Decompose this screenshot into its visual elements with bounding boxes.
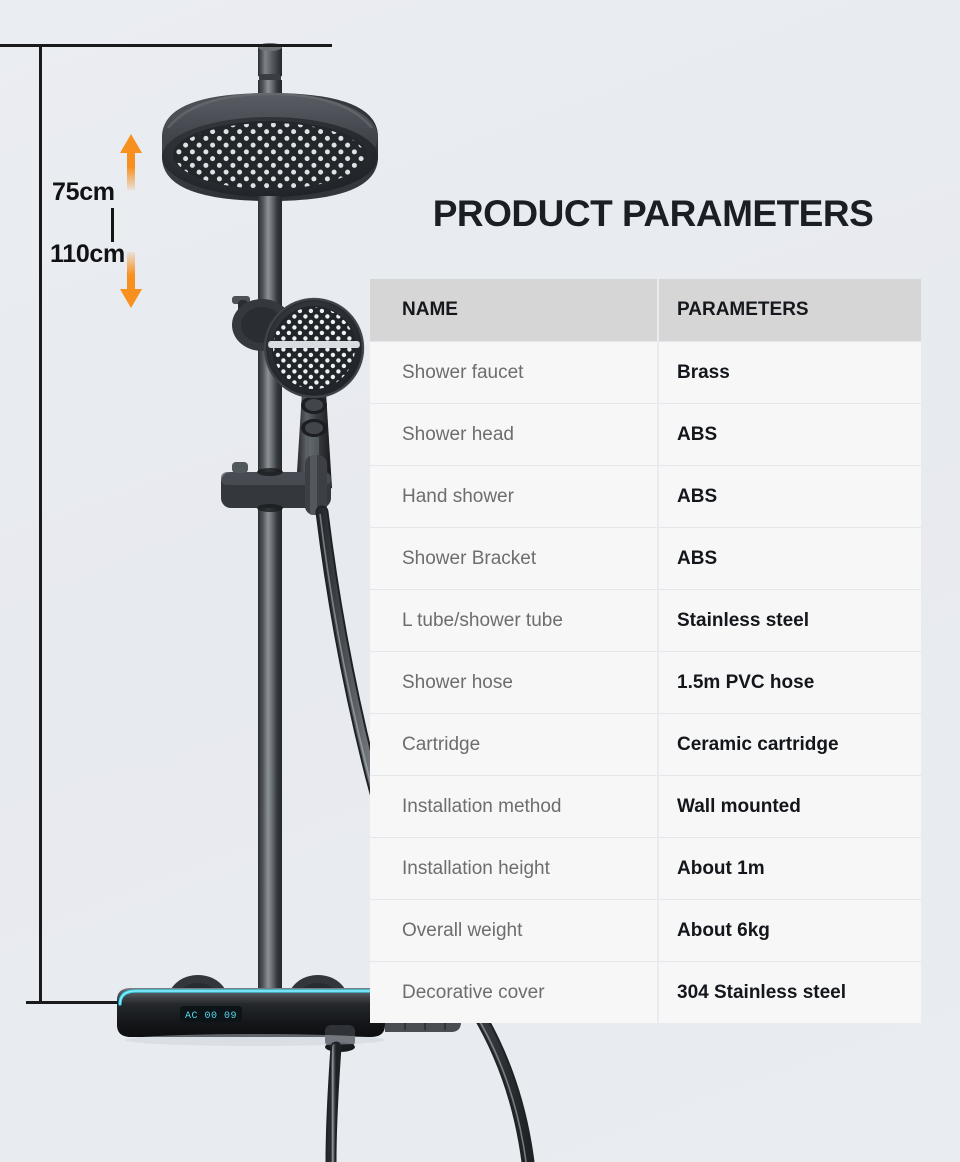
table-cell-value: About 1m [659,837,921,899]
table-cell-name: Installation method [370,775,657,837]
table-cell-value: Ceramic cartridge [659,713,921,775]
table-cell-name: Shower head [370,403,657,465]
table-cell-value: Wall mounted [659,775,921,837]
table-header-row: NAME PARAMETERS [370,279,921,341]
table-cell-value: Brass [659,341,921,403]
measurement-line-top [0,44,332,47]
measurement-line-vertical [39,46,42,1003]
table-cell-value: Stainless steel [659,589,921,651]
measurement-tick [111,208,114,242]
table-cell-name: Decorative cover [370,961,657,1023]
table-cell-value: About 6kg [659,899,921,961]
table-row: Decorative cover304 Stainless steel [370,961,921,1023]
rain-shower-head [162,93,378,201]
svg-text:AC 00 09: AC 00 09 [185,1011,237,1022]
product-parameters-page: AC 00 09 75cm 110cm PROD [0,0,960,1162]
table-body: Shower faucetBrassShower headABSHand sho… [370,341,921,1023]
table-cell-name: Installation height [370,837,657,899]
table-cell-name: L tube/shower tube [370,589,657,651]
arrow-up-icon [120,134,142,190]
table-row: Shower headABS [370,403,921,465]
table-cell-value: ABS [659,465,921,527]
table-cell-value: ABS [659,527,921,589]
header-cell-parameters: PARAMETERS [659,279,921,341]
arrow-down-icon [120,252,142,308]
measurement-line-bottom [26,1001,118,1004]
header-cell-name: NAME [370,279,657,341]
table-row: CartridgeCeramic cartridge [370,713,921,775]
table-cell-name: Shower faucet [370,341,657,403]
table-row: Shower faucetBrass [370,341,921,403]
riser-top-inlet [258,43,282,84]
table-row: Overall weightAbout 6kg [370,899,921,961]
table-cell-value: 1.5m PVC hose [659,651,921,713]
table-row: Shower hose1.5m PVC hose [370,651,921,713]
table-row: L tube/shower tubeStainless steel [370,589,921,651]
table-row: Shower BracketABS [370,527,921,589]
specification-table: NAME PARAMETERS Shower faucetBrassShower… [370,279,921,1023]
measurement-label-110cm: 110cm [50,240,125,269]
table-row: Hand showerABS [370,465,921,527]
table-cell-value: ABS [659,403,921,465]
table-cell-value: 304 Stainless steel [659,961,921,1023]
measurement-label-75cm: 75cm [52,178,115,207]
table-cell-name: Cartridge [370,713,657,775]
page-title: PRODUCT PARAMETERS [383,193,923,235]
table-cell-name: Shower hose [370,651,657,713]
table-row: Installation heightAbout 1m [370,837,921,899]
table-cell-name: Overall weight [370,899,657,961]
table-cell-name: Hand shower [370,465,657,527]
table-row: Installation methodWall mounted [370,775,921,837]
table-cell-name: Shower Bracket [370,527,657,589]
